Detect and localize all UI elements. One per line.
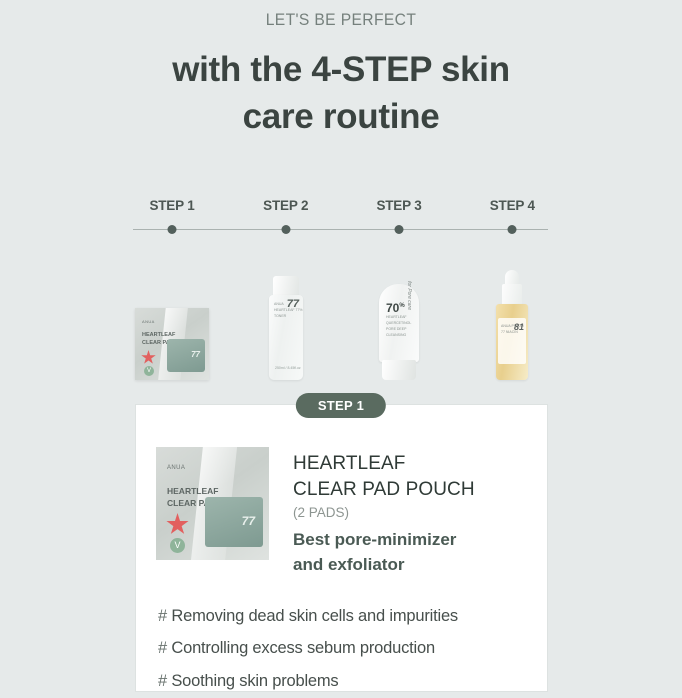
timeline-dot-step-1[interactable] — [168, 225, 177, 234]
toner-bottle: ANUA HEARTLEAF 77% TONER 77 250ml / 8.45… — [269, 276, 303, 380]
step-badge: STEP 1 — [296, 393, 386, 418]
timeline-dot-step-2[interactable] — [281, 225, 290, 234]
timeline-dot-step-4[interactable] — [508, 225, 517, 234]
step-detail-card: ANUA HEARTLEAF CLEAR PAD V 77 HEARTLEAF … — [135, 404, 548, 692]
page-title-line-2: care routine — [0, 94, 682, 141]
product-image-step-4[interactable]: ANUA PEACH 77 NIACIN 81 — [496, 270, 528, 380]
card-pouch-package: ANUA HEARTLEAF CLEAR PAD V 77 — [156, 447, 269, 560]
product-description-line-2: and exfoliator — [293, 553, 475, 578]
serum-bottle: ANUA PEACH 77 NIACIN 81 — [496, 270, 528, 380]
toner-number-label: 77 — [287, 298, 299, 310]
timeline-label-step-4[interactable]: STEP 4 — [490, 198, 535, 213]
tube-percent-label: 70% — [386, 301, 405, 315]
tube-percent-unit: % — [399, 303, 404, 309]
card-jar-number-label: 77 — [242, 514, 255, 528]
cream-jar: 77 — [167, 339, 205, 372]
pouch-package: ANUA HEARTLEAF CLEAR PAD V 77 — [135, 308, 209, 380]
card-cream-jar: 77 — [205, 497, 263, 547]
card-pouch-brand-label: ANUA — [167, 465, 185, 471]
product-image-step-3[interactable]: 70% HEARTLEAF QUERCETINOL PORE DEEP CLEA… — [379, 284, 419, 380]
card-star-burst-icon — [166, 513, 189, 536]
step-timeline-labels: STEP 1 STEP 2 STEP 3 STEP 4 — [133, 198, 548, 218]
timeline-dot-step-3[interactable] — [395, 225, 404, 234]
product-title-line-2: CLEAR PAD POUCH — [293, 477, 475, 503]
card-vegan-badge-icon: V — [170, 538, 185, 553]
list-item: # Soothing skin problems — [158, 665, 547, 698]
bullet-text: Controlling excess sebum production — [171, 639, 435, 657]
bullet-marker: # — [158, 672, 167, 690]
bullet-marker: # — [158, 639, 167, 657]
bullet-text: Removing dead skin cells and impurities — [171, 607, 458, 625]
bullet-marker: # — [158, 607, 167, 625]
product-title: HEARTLEAF CLEAR PAD POUCH — [293, 451, 475, 502]
eyebrow-text: LET'S BE PERFECT — [27, 10, 654, 30]
list-item: # Controlling excess sebum production — [158, 632, 547, 665]
card-product-image[interactable]: ANUA HEARTLEAF CLEAR PAD V 77 — [156, 447, 269, 560]
tube-percent-number: 70 — [386, 301, 399, 315]
page-header: LET'S BE PERFECT with the 4-STEP skin ca… — [0, 0, 682, 140]
step-timeline: STEP 1 STEP 2 STEP 3 STEP 4 — [133, 198, 548, 238]
pouch-brand-label: ANUA — [142, 319, 155, 324]
timeline-label-step-1[interactable]: STEP 1 — [149, 198, 194, 213]
product-title-line-1: HEARTLEAF — [293, 451, 475, 477]
timeline-label-step-3[interactable]: STEP 3 — [376, 198, 421, 213]
tube-body: 70% HEARTLEAF QUERCETINOL PORE DEEP CLEA… — [379, 284, 419, 362]
card-pouch-name-line-1: HEARTLEAF — [167, 485, 218, 497]
page-title-line-1: with the 4-STEP skin — [0, 47, 682, 94]
cleanser-tube: 70% HEARTLEAF QUERCETINOL PORE DEEP CLEA… — [379, 284, 419, 380]
product-image-step-1[interactable]: ANUA HEARTLEAF CLEAR PAD V 77 — [135, 308, 209, 380]
tube-script-label: for Pore care — [406, 281, 412, 310]
card-top-section: ANUA HEARTLEAF CLEAR PAD V 77 HEARTLEAF … — [136, 405, 547, 578]
product-subtitle: (2 PADS) — [293, 505, 475, 520]
list-item: # Removing dead skin cells and impuritie… — [158, 600, 547, 633]
vegan-badge-icon: V — [144, 366, 154, 376]
tube-sub-lines: HEARTLEAF QUERCETINOL PORE DEEP CLEANSIN… — [386, 315, 419, 339]
page-title: with the 4-STEP skin care routine — [0, 47, 682, 140]
serum-number-label: 81 — [514, 322, 524, 332]
timeline-label-step-2[interactable]: STEP 2 — [263, 198, 308, 213]
benefit-list: # Removing dead skin cells and impuritie… — [136, 578, 547, 698]
product-image-step-2[interactable]: ANUA HEARTLEAF 77% TONER 77 250ml / 8.45… — [269, 276, 303, 380]
jar-number-label: 77 — [191, 350, 200, 359]
serum-neck — [502, 284, 522, 306]
toner-volume-label: 250ml / 8.45fl.oz — [275, 366, 301, 370]
card-text-block: HEARTLEAF CLEAR PAD POUCH (2 PADS) Best … — [269, 447, 475, 578]
toner-cap — [273, 276, 299, 296]
tube-cap — [382, 360, 416, 380]
product-row: ANUA HEARTLEAF CLEAR PAD V 77 ANUA HEART… — [0, 250, 682, 380]
star-burst-icon — [141, 350, 156, 365]
product-description-line-1: Best pore-minimizer — [293, 528, 475, 553]
product-description: Best pore-minimizer and exfoliator — [293, 528, 475, 577]
bullet-text: Soothing skin problems — [171, 672, 338, 690]
timeline-line — [133, 229, 548, 230]
